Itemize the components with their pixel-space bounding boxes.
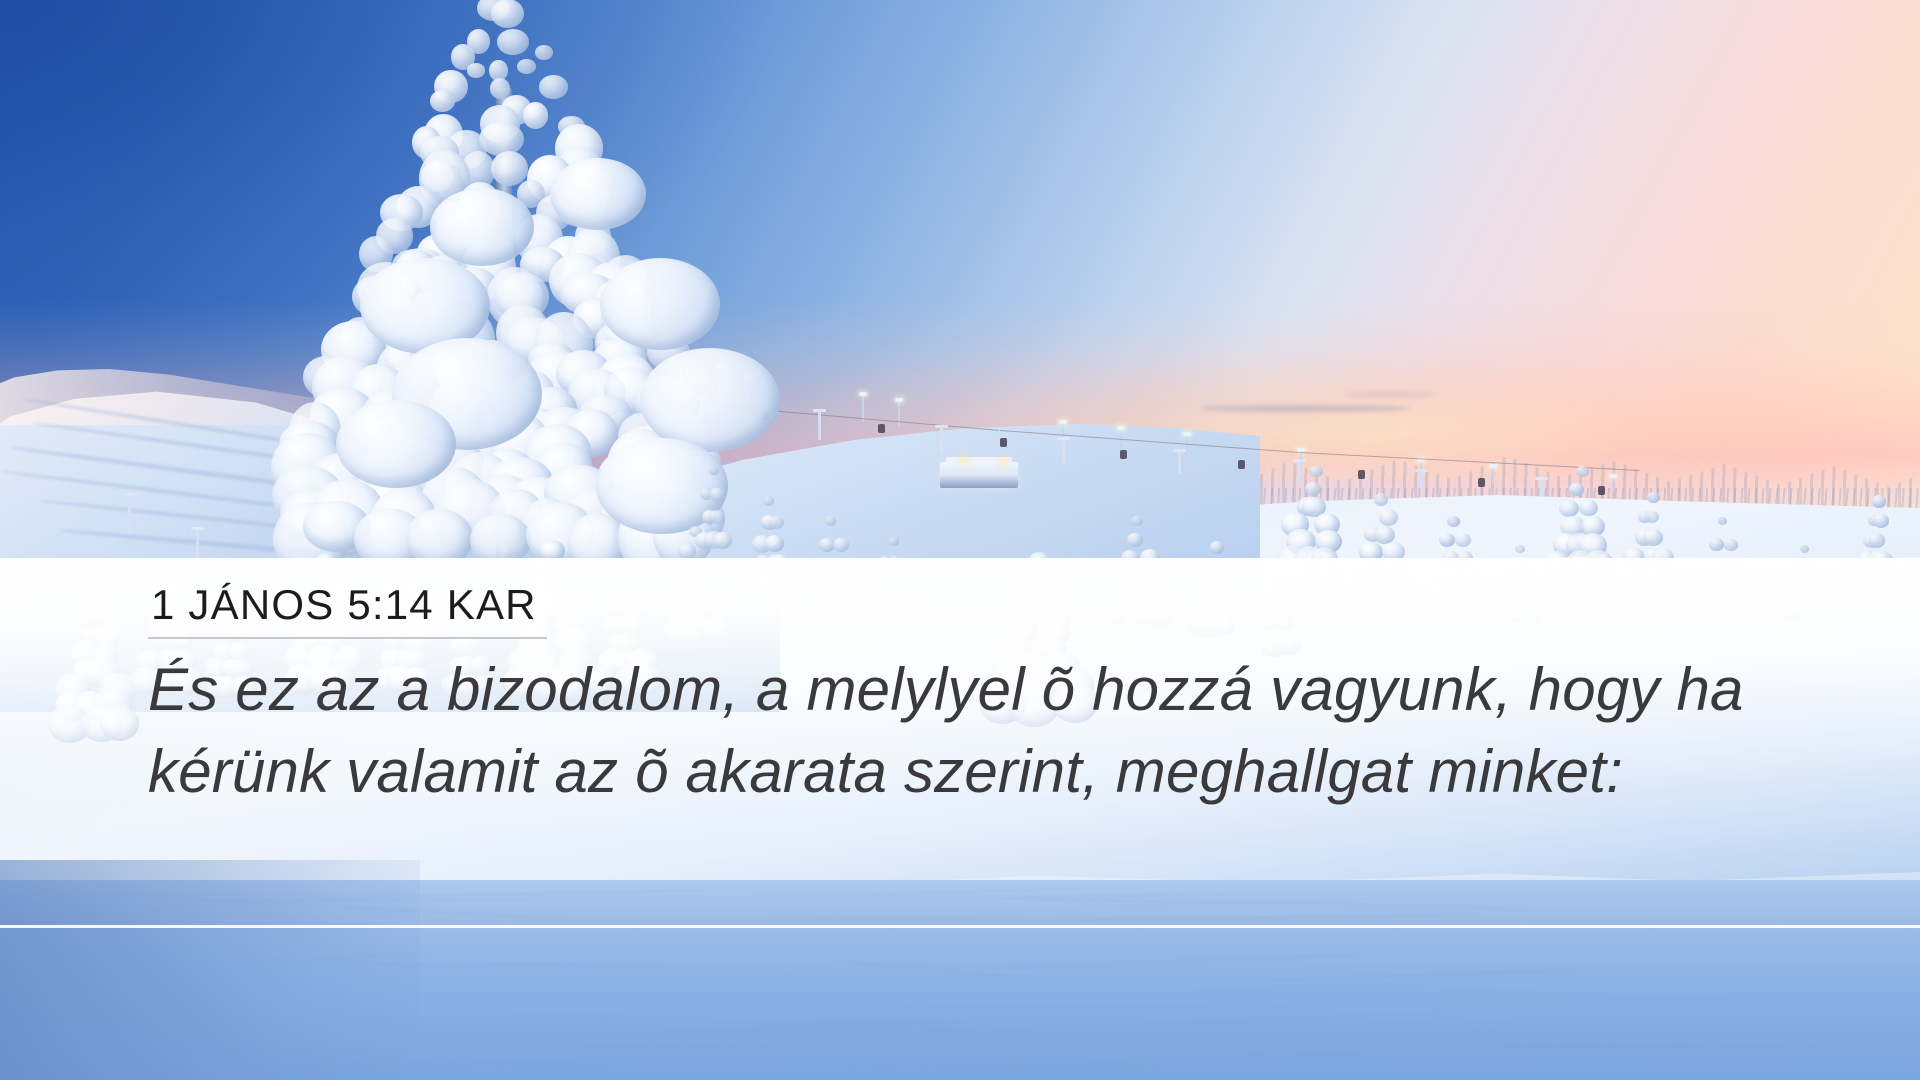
verse-reference: 1 JÁNOS 5:14 KAR (148, 578, 547, 639)
snow-clump (1872, 495, 1886, 507)
snow-clump (1724, 539, 1737, 551)
verse-image-canvas: 1 JÁNOS 5:14 KAR És ez az a bizodalom, a… (0, 0, 1920, 1080)
snow-clump (535, 45, 553, 60)
snow-clump (467, 63, 485, 77)
snow-clump (1645, 511, 1658, 523)
snow-clump (1873, 514, 1890, 529)
gondola-cabin (1000, 438, 1007, 447)
ridge-lamp-post (1492, 468, 1494, 484)
snow-clump (1374, 493, 1389, 506)
snow-clump (825, 516, 837, 526)
gondola-tower (1062, 440, 1065, 464)
snow-bulge (640, 348, 780, 452)
snow-clump (1309, 466, 1322, 478)
gondola-tower (1540, 480, 1543, 496)
snow-clump (1379, 509, 1398, 526)
snow-clump (1647, 492, 1660, 503)
snow-clump (1515, 545, 1525, 554)
snow-clump (678, 543, 696, 559)
station-light (962, 458, 965, 461)
verse-panel-divider-rule (0, 925, 1920, 928)
snow-clump (709, 467, 719, 476)
snow-bulge (336, 400, 456, 488)
snow-clump (1718, 517, 1727, 525)
gondola-tower (940, 428, 943, 454)
snow-clump (1210, 541, 1224, 553)
snow-clump (1800, 545, 1809, 553)
gondola-cabin (878, 424, 885, 433)
snow-clump (1869, 533, 1885, 547)
gondola-cabin (1358, 470, 1365, 479)
snow-clump (1305, 482, 1321, 496)
verse-text: És ez az a bizodalom, a melylyel õ hozzá… (148, 649, 1788, 813)
gondola-tower (818, 412, 821, 440)
snow-clump (491, 0, 524, 28)
snow-clump (1576, 466, 1589, 477)
snow-bulge (600, 258, 720, 350)
snow-clump (888, 537, 898, 546)
snow-clump (517, 59, 537, 74)
snow-clump (1643, 529, 1662, 546)
snow-clump (1709, 538, 1724, 551)
snow-clump (523, 102, 548, 129)
gondola-cabin (1238, 460, 1245, 469)
snow-clump (1455, 533, 1471, 547)
ridge-lamp-post (1186, 436, 1188, 456)
snow-clump (709, 510, 725, 524)
snow-clump (479, 122, 523, 156)
snow-bulge (550, 158, 646, 230)
ridge-lamp-post (1120, 430, 1122, 450)
snow-clump (709, 488, 724, 502)
snow-clump (713, 532, 732, 549)
station-light (1002, 460, 1005, 463)
gondola-station-building (940, 462, 1018, 488)
cloud-wisp (1345, 392, 1435, 397)
snow-clump (490, 78, 510, 99)
snow-ghost-tree (700, 470, 730, 544)
snow-clump (765, 535, 784, 551)
ridge-lamp-post (1612, 478, 1614, 492)
snow-clump (1447, 516, 1460, 527)
snow-ghost-tree (1560, 470, 1600, 568)
gondola-cabin (1478, 478, 1485, 487)
snow-clump (497, 29, 529, 56)
snow-clump (1579, 500, 1598, 517)
snow-clump (833, 538, 849, 552)
gondola-tower (1420, 472, 1423, 490)
snow-clump (1131, 516, 1143, 526)
snow-clump (763, 496, 774, 506)
snow-clump (1374, 526, 1395, 544)
snow-clump (491, 151, 528, 186)
snow-clump (430, 90, 455, 112)
snow-bulge (430, 188, 534, 266)
snow-clump (1439, 533, 1455, 547)
verse-content: 1 JÁNOS 5:14 KAR És ez az a bizodalom, a… (148, 578, 1788, 813)
snow-clump (1559, 500, 1578, 517)
snow-clump (769, 516, 784, 529)
snow-clump (1569, 483, 1584, 496)
snow-clump (539, 75, 568, 98)
gondola-cabin (1120, 450, 1127, 459)
foreground-snow-laden-spruce (300, 8, 720, 568)
chairlift-tower (128, 496, 131, 534)
cloud-wisp (1200, 405, 1410, 412)
snow-clump (1127, 533, 1143, 547)
gondola-tower (1178, 452, 1181, 474)
